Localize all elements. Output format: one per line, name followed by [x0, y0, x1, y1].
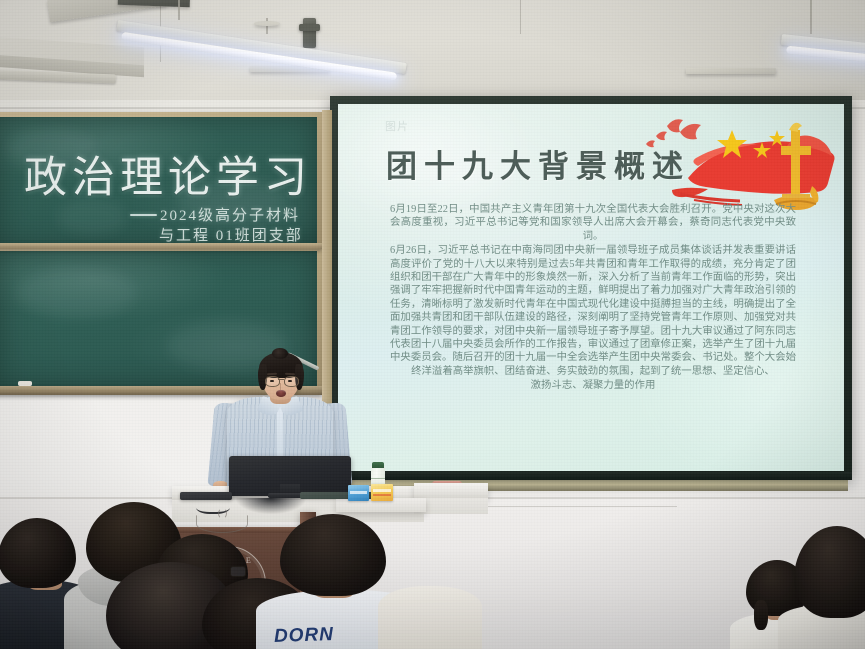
slide-body: 6月19日至22日，中国共产主义青年团第十九次全国代表大会胜利召开。党中央对这次… [390, 203, 796, 394]
student-hair [794, 526, 865, 618]
coat-hanger-hook [218, 508, 227, 519]
student-hair [0, 518, 76, 588]
mouth [276, 390, 286, 397]
slide-title: 团十九大背景概述 [386, 141, 690, 186]
student-hair [280, 514, 386, 596]
box-stripe [373, 489, 391, 492]
chalkboard-subtitle-line2: 与工程 01班团支部 [159, 224, 303, 245]
podium-desktop-right [414, 483, 488, 499]
student-shoulders [378, 586, 482, 649]
chalkboard-subtitle-line1: 2024级高分子材料 [160, 204, 300, 225]
chalkboard-dash [130, 214, 157, 216]
screen-bottom-rail [330, 472, 852, 480]
eye-left [270, 380, 274, 383]
cable-bundle [236, 498, 306, 514]
eye-right [288, 380, 292, 383]
student-shirt-text: DORN [274, 624, 335, 648]
chalk-dust [17, 267, 137, 319]
slide-paragraph-1: 6月19日至22日，中国共产主义青年团第十九次全国代表大会胜利召开。党中央对这次… [390, 203, 796, 243]
wall-speaker-bracket [299, 24, 320, 31]
ceiling-mount-plate [254, 21, 280, 26]
light-hanger-stem [810, 0, 812, 34]
student-9 [792, 530, 865, 649]
light-hanger-stem [178, 0, 180, 20]
flag-shape [672, 136, 835, 206]
slide-paragraph-3: 激扬斗志、凝聚力量的作用 [390, 379, 796, 392]
projected-slide: 图片 [338, 104, 844, 471]
blue-box[interactable] [348, 485, 369, 501]
presenter-hair-bun [272, 348, 288, 359]
box-stripe [373, 494, 391, 496]
yellow-box[interactable] [371, 484, 393, 501]
glasses-bridge [278, 379, 284, 381]
wall-speaker [303, 18, 316, 48]
chalk-piece [18, 381, 32, 386]
classroom-photo: 政治理论学习 2024级高分子材料 与工程 01班团支部 图片 [0, 0, 865, 649]
slide-watermark: 图片 [384, 122, 410, 134]
slide-paragraph-2: 6月26日，习近平总书记在中南海同团中央新一届领导班子成员集体谈话并发表重要讲话… [390, 244, 796, 378]
chalkboard-title: 政治理论学习 [24, 143, 312, 205]
air-vent [686, 68, 776, 74]
bottle-cap [372, 462, 384, 468]
nose [280, 383, 284, 390]
ceiling-seam [520, 0, 521, 34]
student-7 [380, 552, 470, 649]
box-stripe [350, 491, 367, 494]
student-ponytail [754, 600, 768, 630]
